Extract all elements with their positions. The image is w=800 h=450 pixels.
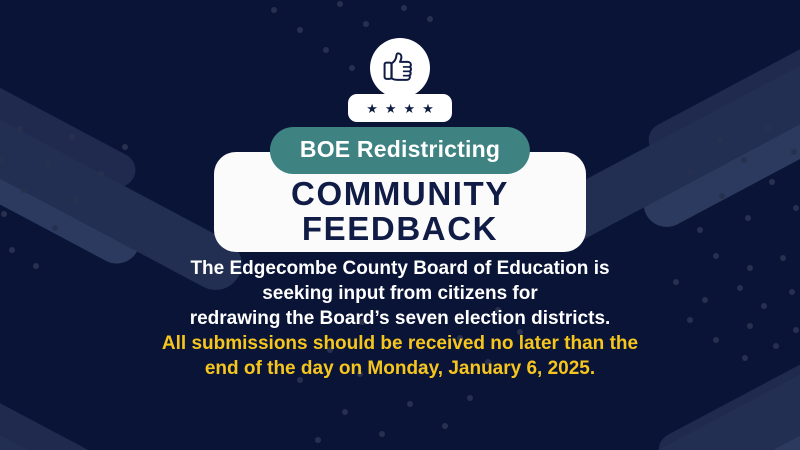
- thumbs-up-badge: [370, 38, 430, 98]
- deadline-line-2: end of the day on Monday, January 6, 202…: [0, 356, 800, 381]
- star-icon: ★: [385, 102, 397, 115]
- star-icon: ★: [404, 102, 416, 115]
- poster-content: ★ ★ ★ ★ COMMUNITY FEEDBACK BOE Redistric…: [0, 0, 800, 450]
- body-copy: The Edgecombe County Board of Education …: [0, 256, 800, 381]
- emblem: ★ ★ ★ ★: [0, 38, 800, 122]
- page-title-line-2: FEEDBACK: [302, 212, 498, 246]
- star-icon: ★: [366, 102, 378, 115]
- star-rating-bar: ★ ★ ★ ★: [348, 94, 452, 122]
- star-icon: ★: [422, 102, 434, 115]
- body-line-3: redrawing the Board’s seven election dis…: [0, 306, 800, 331]
- body-line-2: seeking input from citizens for: [0, 281, 800, 306]
- body-line-1: The Edgecombe County Board of Education …: [0, 256, 800, 281]
- announcement-poster: ★ ★ ★ ★ COMMUNITY FEEDBACK BOE Redistric…: [0, 0, 800, 450]
- category-badge: BOE Redistricting: [270, 127, 530, 174]
- page-title-line-1: COMMUNITY: [291, 177, 509, 211]
- deadline-line-1: All submissions should be received no la…: [0, 331, 800, 356]
- thumbs-up-icon: [380, 48, 420, 88]
